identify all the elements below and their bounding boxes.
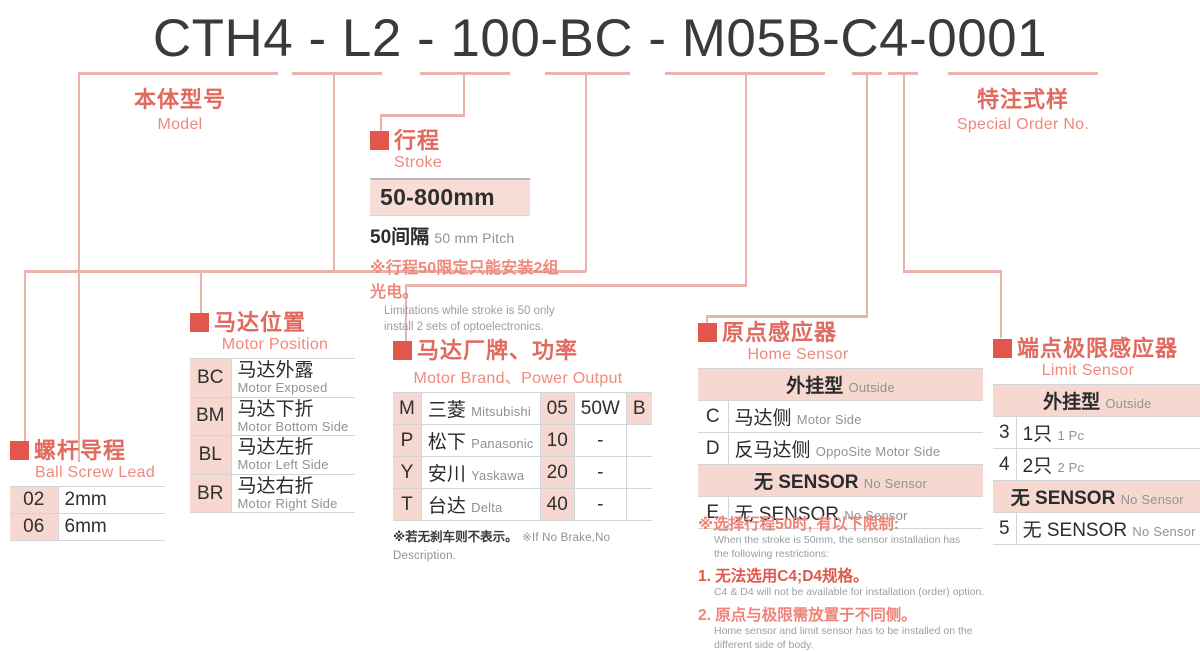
motorpos-desc-en: Motor Left Side [238, 458, 349, 472]
restriction-head-cn: ※选择行程50时, 有以下限制: [698, 512, 1008, 534]
stroke-pitch: 50间隔 50 mm Pitch [370, 222, 570, 249]
motorpos-desc: 马达右折 Motor Right Side [231, 474, 355, 513]
homesensor-desc-en: OppoSite Motor Side [816, 444, 940, 459]
homesensor-code: C [698, 401, 728, 433]
brand-name: 安川 Yaskawa [421, 457, 540, 489]
table-row: 无 SENSOR No Sensor [698, 465, 983, 497]
table-row: 02 2mm [10, 487, 165, 514]
table-row: 外挂型 Outside [993, 385, 1200, 417]
home-sensor-table: 外挂型 Outside C 马达侧 Motor Side D 反马达侧 Oppo [698, 368, 983, 529]
limitsensor-desc: 无 SENSOR No Sensor [1016, 513, 1200, 545]
power-value: - [574, 425, 626, 457]
bracket-motorpos [545, 72, 630, 75]
table-row: P 松下 Panasonic 10 - [393, 425, 652, 457]
restriction-head-en-line2: the following restrictions: [714, 548, 1008, 562]
motorpos-code: BR [190, 474, 231, 513]
homesensor-desc: 反马达侧 OppoSite Motor Side [728, 433, 983, 465]
table-row: 无 SENSOR No Sensor [993, 481, 1200, 513]
restriction-item-2-cn: 2. 原点与极限需放置于不同侧。 [698, 603, 1008, 625]
motorpos-code: BM [190, 397, 231, 436]
brand-name-en: Yaskawa [471, 468, 524, 483]
motor-brand-table: M 三菱 Mitsubishi 05 50W B P 松下 Panasonic [393, 392, 652, 521]
leader-stroke-h [380, 114, 465, 117]
homesensor-banner2-en: No Sensor [864, 476, 927, 491]
limitsensor-desc-cn: 无 SENSOR [1023, 520, 1128, 541]
table-row: 06 6mm [10, 514, 165, 541]
section-motor-brand: 马达厂牌、功率 Motor Brand、Power Output M 三菱 Mi… [393, 340, 643, 564]
table-row: 3 1只 1 Pc [993, 417, 1200, 449]
brand-code: Y [393, 457, 421, 489]
leader-lead [333, 72, 335, 272]
stroke-range-box: 50-800mm [370, 178, 530, 216]
homesensor-desc: 马达侧 Motor Side [728, 401, 983, 433]
bullet-square-icon [190, 313, 209, 332]
bracket-lead [292, 72, 382, 75]
stroke-title-cn: 行程 [394, 128, 440, 153]
motorpos-desc-cn: 马达左折 [238, 438, 349, 458]
brand-name: 三菱 Mitsubishi [421, 393, 540, 425]
motorpos-desc-en: Motor Exposed [238, 381, 349, 395]
stroke-warning-en-line2: install 2 sets of optoelectronics. [384, 320, 570, 336]
route-limitsensor-drop [1000, 270, 1002, 338]
brand-name-cn: 三菱 [428, 400, 466, 421]
brand-name: 松下 Panasonic [421, 425, 540, 457]
section-stroke: 行程 Stroke 50-800mm 50间隔 50 mm Pitch ※行程5… [370, 130, 570, 335]
route-homesensor-h [706, 315, 868, 318]
homesensor-code: D [698, 433, 728, 465]
leader-motorpos [585, 72, 587, 272]
bullet-square-icon [393, 341, 412, 360]
homesensor-title-cn: 原点感应器 [722, 320, 837, 345]
brand-code: T [393, 489, 421, 521]
power-value: 50W [574, 393, 626, 425]
home-sensor-restrictions: ※选择行程50时, 有以下限制: When the stroke is 50mm… [698, 512, 1008, 652]
lead-value: 6mm [58, 514, 165, 541]
lead-value: 2mm [58, 487, 165, 514]
bullet-square-icon [698, 323, 717, 342]
table-row: M 三菱 Mitsubishi 05 50W B [393, 393, 652, 425]
limitsensor-banner2-cn: 无 SENSOR [1011, 488, 1116, 509]
leader-limitsensor [903, 72, 905, 272]
limitsensor-desc-cn: 1只 [1023, 424, 1053, 445]
lead-code: 02 [10, 487, 58, 514]
table-row: BR 马达右折 Motor Right Side [190, 474, 355, 513]
bullet-square-icon [370, 131, 389, 150]
brand-name-en: Panasonic [471, 436, 534, 451]
stroke-title-en: Stroke [370, 154, 570, 172]
motorpos-desc: 马达左折 Motor Left Side [231, 436, 355, 475]
motorpos-title-cn: 马达位置 [214, 310, 306, 335]
limit-sensor-table: 外挂型 Outside 3 1只 1 Pc 4 2只 2 Pc [993, 384, 1200, 545]
section-home-sensor: 原点感应器 Home Sensor 外挂型 Outside C 马达侧 Moto… [698, 322, 988, 529]
limitsensor-banner-outside: 外挂型 Outside [993, 385, 1200, 417]
stroke-warning-cn: ※行程50限定只能安装2组光电。 [370, 254, 570, 302]
homesensor-desc-cn: 马达侧 [735, 408, 792, 429]
motorbrand-title-cn: 马达厂牌、功率 [417, 338, 578, 363]
bullet-square-icon [10, 441, 29, 460]
bracket-stroke [420, 72, 510, 75]
limitsensor-desc: 1只 1 Pc [1016, 417, 1200, 449]
limitsensor-title-cn: 端点极限感应器 [1017, 336, 1178, 361]
power-code: 05 [540, 393, 574, 425]
restriction-item-2-en: Home sensor and limit sensor has to be i… [698, 625, 1008, 652]
brand-name-en: Delta [471, 500, 502, 515]
table-row: T 台达 Delta 40 - [393, 489, 652, 521]
motorbrand-title-en: Motor Brand、Power Output [393, 364, 643, 388]
limitsensor-desc-cn: 2只 [1023, 456, 1053, 477]
diagram-canvas: CTH4 - L2 - 100-BC - M05B-C4-0001 本体型号 M… [0, 0, 1200, 601]
homesensor-desc-cn: 反马达侧 [735, 440, 811, 461]
route-lead-v [24, 270, 26, 452]
bracket-special [948, 72, 1098, 75]
power-code: 20 [540, 457, 574, 489]
table-row: BM 马达下折 Motor Bottom Side [190, 397, 355, 436]
brand-code: M [393, 393, 421, 425]
motor-position-table: BC 马达外露 Motor Exposed BM 马达下折 Motor Bott… [190, 358, 355, 513]
homesensor-title-en: Home Sensor [698, 346, 898, 364]
restriction-head-en-line1: When the stroke is 50mm, the sensor inst… [714, 534, 1008, 548]
table-row: C 马达侧 Motor Side [698, 401, 983, 433]
model-title-en: Model [100, 116, 260, 134]
stroke-warning-en: Limitations while stroke is 50 only inst… [370, 304, 570, 335]
section-limit-sensor: 端点极限感应器 Limit Sensor 外挂型 Outside 3 1只 1 … [993, 338, 1198, 545]
ball-screw-lead-table: 02 2mm 06 6mm [10, 486, 165, 541]
motorpos-desc-en: Motor Bottom Side [238, 420, 349, 434]
stroke-warning-en-line1: Limitations while stroke is 50 only [384, 304, 570, 320]
power-value: - [574, 457, 626, 489]
restriction-item-1-en: C4 & D4 will not be available for instal… [698, 586, 1008, 600]
homesensor-banner-en: Outside [849, 380, 895, 395]
power-code: 10 [540, 425, 574, 457]
leader-stroke [463, 72, 465, 116]
limitsensor-code: 4 [993, 449, 1016, 481]
model-title-cn: 本体型号 [100, 82, 260, 114]
motorpos-desc: 马达下折 Motor Bottom Side [231, 397, 355, 436]
brake-code [626, 425, 651, 457]
motorpos-code: BC [190, 359, 231, 398]
leader-motorbrand [745, 72, 747, 284]
table-row: BC 马达外露 Motor Exposed [190, 359, 355, 398]
table-row: 5 无 SENSOR No Sensor [993, 513, 1200, 545]
motor-brand-footnote: ※若无刹车则不表示。 ※If No Brake,No Description. [393, 526, 643, 564]
power-value: - [574, 489, 626, 521]
motorpos-desc-cn: 马达下折 [238, 400, 349, 420]
power-code: 40 [540, 489, 574, 521]
limitsensor-banner2-en: No Sensor [1121, 492, 1184, 507]
brake-code: B [626, 393, 651, 425]
lead-title-en: Ball Screw Lead [10, 464, 180, 482]
limitsensor-banner-en: Outside [1105, 396, 1151, 411]
stroke-pitch-en: 50 mm Pitch [434, 230, 514, 246]
limitsensor-desc-en: 2 Pc [1057, 460, 1084, 475]
special-order-title-cn: 特注式样 [948, 82, 1098, 114]
motorpos-desc-cn: 马达外露 [238, 361, 349, 381]
table-row: D 反马达侧 OppoSite Motor Side [698, 433, 983, 465]
brand-name-en: Mitsubishi [471, 404, 531, 419]
table-row: BL 马达左折 Motor Left Side [190, 436, 355, 475]
section-ball-screw-lead: 螺杆导程 Ball Screw Lead 02 2mm 06 6mm [10, 440, 180, 541]
motorpos-title-en: Motor Position [190, 336, 360, 354]
homesensor-banner-outside: 外挂型 Outside [698, 369, 983, 401]
section-model: 本体型号 Model [100, 82, 260, 134]
stroke-pitch-cn: 50间隔 [370, 227, 429, 248]
limitsensor-desc-en: No Sensor [1132, 524, 1195, 539]
special-order-title-en: Special Order No. [948, 116, 1098, 134]
homesensor-banner-nosensor: 无 SENSOR No Sensor [698, 465, 983, 497]
limitsensor-banner-cn: 外挂型 [1043, 392, 1100, 413]
route-limitsensor-seg [903, 270, 1001, 273]
brand-name: 台达 Delta [421, 489, 540, 521]
motor-brand-footnote-cn: ※若无刹车则不表示。 [393, 530, 518, 544]
brake-code [626, 489, 651, 521]
section-motor-position: 马达位置 Motor Position BC 马达外露 Motor Expose… [190, 312, 360, 513]
homesensor-banner-cn: 外挂型 [786, 376, 843, 397]
motorpos-code: BL [190, 436, 231, 475]
brand-name-cn: 安川 [428, 464, 466, 485]
homesensor-desc-en: Motor Side [797, 412, 862, 427]
leader-model [78, 72, 80, 462]
brand-name-cn: 台达 [428, 496, 466, 517]
limitsensor-desc-en: 1 Pc [1057, 428, 1084, 443]
brand-name-cn: 松下 [428, 432, 466, 453]
lead-title-cn: 螺杆导程 [34, 438, 126, 463]
table-row: 4 2只 2 Pc [993, 449, 1200, 481]
bullet-square-icon [993, 339, 1012, 358]
bracket-model [78, 72, 278, 75]
section-special-order: 特注式样 Special Order No. [948, 82, 1098, 134]
table-row: 外挂型 Outside [698, 369, 983, 401]
homesensor-banner2-cn: 无 SENSOR [754, 472, 859, 493]
motorpos-desc-cn: 马达右折 [238, 477, 349, 497]
limitsensor-title-en: Limit Sensor [993, 362, 1183, 380]
brand-code: P [393, 425, 421, 457]
restriction-item-2-en-line1: Home sensor and limit sensor has to be i… [714, 625, 1008, 639]
table-row: Y 安川 Yaskawa 20 - [393, 457, 652, 489]
restriction-item-2-en-line2: different side of body. [714, 639, 1008, 652]
model-code: CTH4 - L2 - 100-BC - M05B-C4-0001 [0, 8, 1200, 69]
motorpos-desc: 马达外露 Motor Exposed [231, 359, 355, 398]
lead-code: 06 [10, 514, 58, 541]
limitsensor-code: 3 [993, 417, 1016, 449]
limitsensor-banner-nosensor: 无 SENSOR No Sensor [993, 481, 1200, 513]
leader-homesensor [866, 72, 868, 315]
limitsensor-code: 5 [993, 513, 1016, 545]
brake-code [626, 457, 651, 489]
limitsensor-desc: 2只 2 Pc [1016, 449, 1200, 481]
restriction-head-en: When the stroke is 50mm, the sensor inst… [698, 534, 1008, 561]
motorpos-desc-en: Motor Right Side [238, 497, 349, 511]
restriction-item-1-cn: 1. 无法选用C4;D4规格。 [698, 564, 1008, 586]
